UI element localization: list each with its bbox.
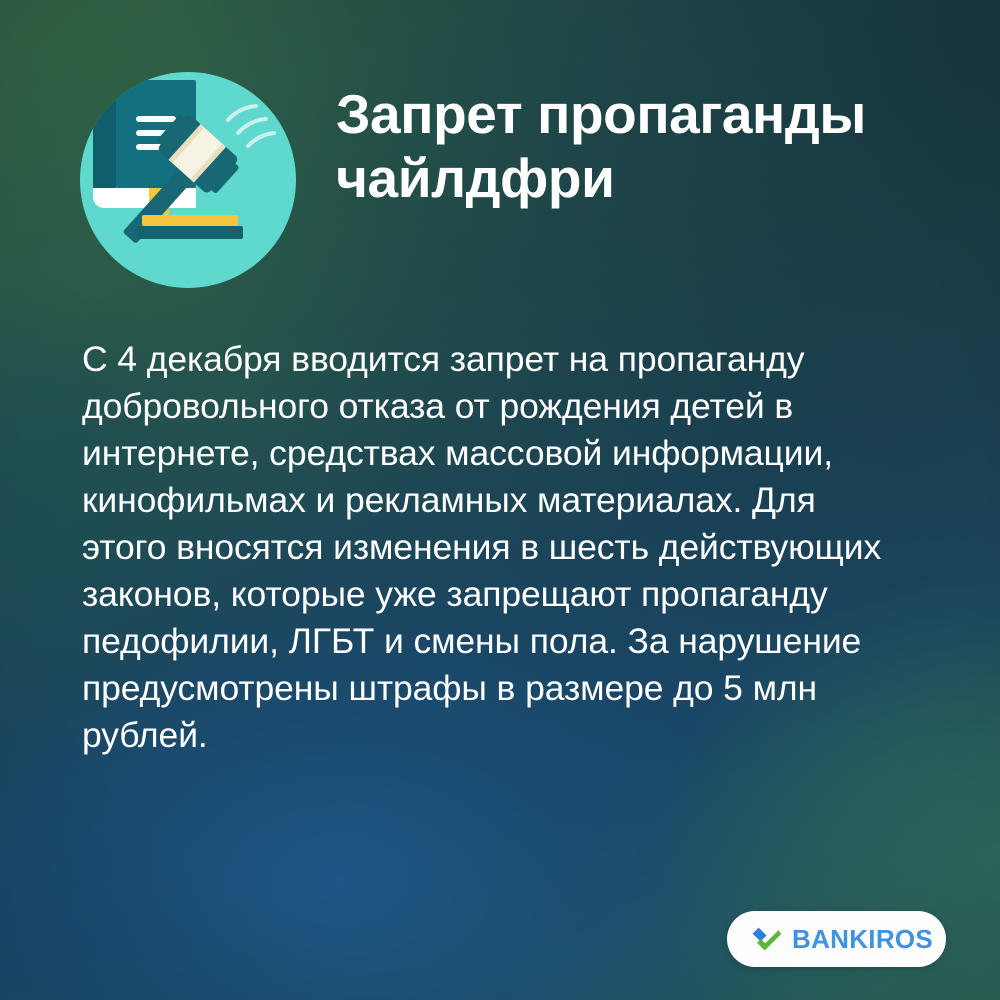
page-title: Запрет пропаганды чайлдфри — [336, 82, 936, 211]
body-text: С 4 декабря вводится запрет на пропаганд… — [82, 336, 892, 759]
law-book-gavel-icon — [80, 72, 296, 288]
bankiros-checkmark-icon — [751, 926, 781, 952]
bankiros-logo-badge[interactable]: BANKIROS — [727, 911, 946, 967]
social-card: Запрет пропаганды чайлдфри С 4 декабря в… — [0, 0, 1000, 1000]
card-header: Запрет пропаганды чайлдфри — [0, 0, 1000, 300]
bankiros-wordmark: BANKIROS — [792, 924, 933, 955]
